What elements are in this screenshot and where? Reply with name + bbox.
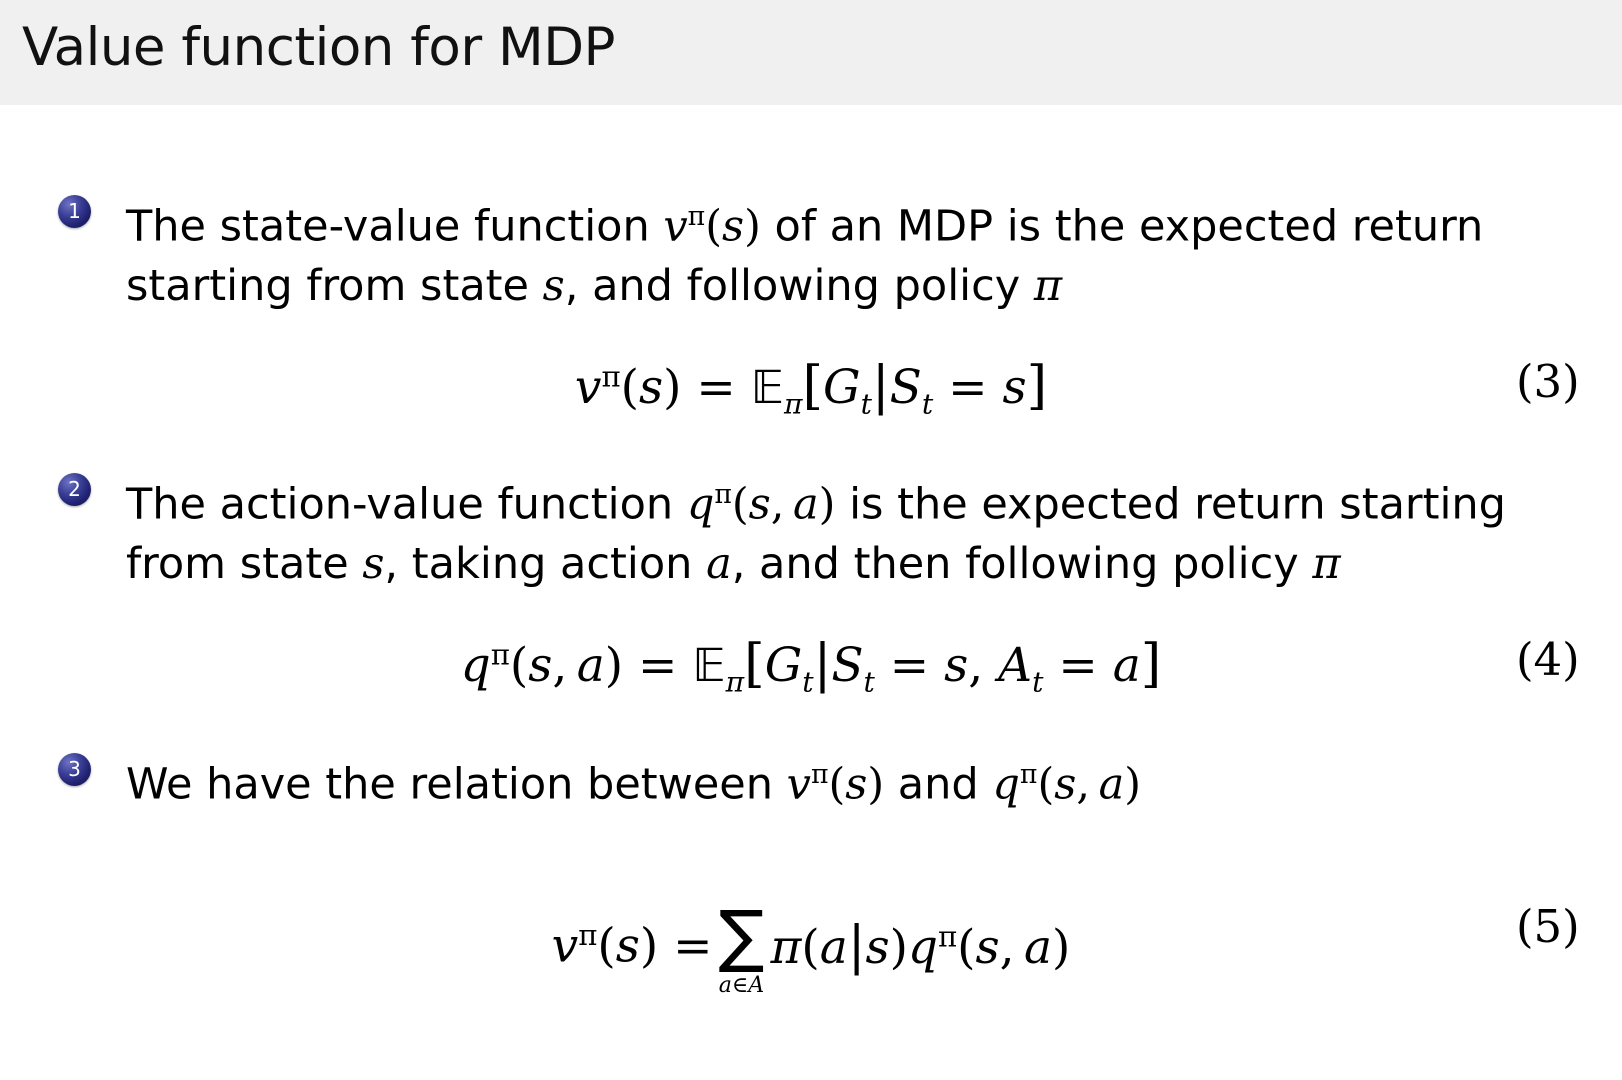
sum-glyph: ∑ (719, 906, 765, 969)
list-item-line: from state s, taking action a, and then … (126, 534, 1558, 594)
equation-4: qπ(s, a) = 𝔼π[Gt|St = s, At = a] (4) (0, 633, 1622, 698)
enumerate-marker-2: 2 (58, 473, 91, 506)
sum-limit: a∈A (719, 973, 765, 997)
equation-5: vπ(s) =∑a∈Aπ(a|s)qπ(s, a) (5) (0, 900, 1622, 991)
slide: Value function for MDP 1 The state-value… (0, 0, 1622, 1080)
equation-number: (4) (1516, 633, 1580, 686)
enumerate-marker-3: 3 (58, 753, 91, 786)
slide-header: Value function for MDP (0, 0, 1622, 105)
list-item-line: starting from state s, and following pol… (126, 256, 1558, 316)
list-item-text: The action-value function qπ(s, a) is th… (126, 465, 1558, 594)
equation-5-expression: vπ(s) =∑a∈Aπ(a|s)qπ(s, a) (552, 900, 1071, 991)
list-item-line: The state-value function vπ(s) of an MDP… (126, 187, 1558, 256)
equation-number: (3) (1516, 355, 1580, 408)
slide-body: 1 The state-value function vπ(s) of an M… (0, 105, 1622, 1080)
equation-4-expression: qπ(s, a) = 𝔼π[Gt|St = s, At = a] (461, 633, 1162, 698)
list-item: 3 We have the relation between vπ(s) and… (58, 745, 1558, 814)
list-item-text: We have the relation between vπ(s) and q… (126, 745, 1558, 814)
enumerate-marker-1: 1 (58, 195, 91, 228)
list-item-line: We have the relation between vπ(s) and q… (126, 745, 1558, 814)
list-item: 2 The action-value function qπ(s, a) is … (58, 465, 1558, 594)
list-item-line: The action-value function qπ(s, a) is th… (126, 465, 1558, 534)
list-item-text: The state-value function vπ(s) of an MDP… (126, 187, 1558, 316)
equation-3: vπ(s) = 𝔼π[Gt|St = s] (3) (0, 355, 1622, 420)
page-title: Value function for MDP (22, 17, 615, 78)
list-item: 1 The state-value function vπ(s) of an M… (58, 187, 1558, 316)
equation-number: (5) (1516, 900, 1580, 953)
equation-3-expression: vπ(s) = 𝔼π[Gt|St = s] (575, 355, 1047, 420)
summation-symbol: ∑a∈A (719, 906, 765, 997)
